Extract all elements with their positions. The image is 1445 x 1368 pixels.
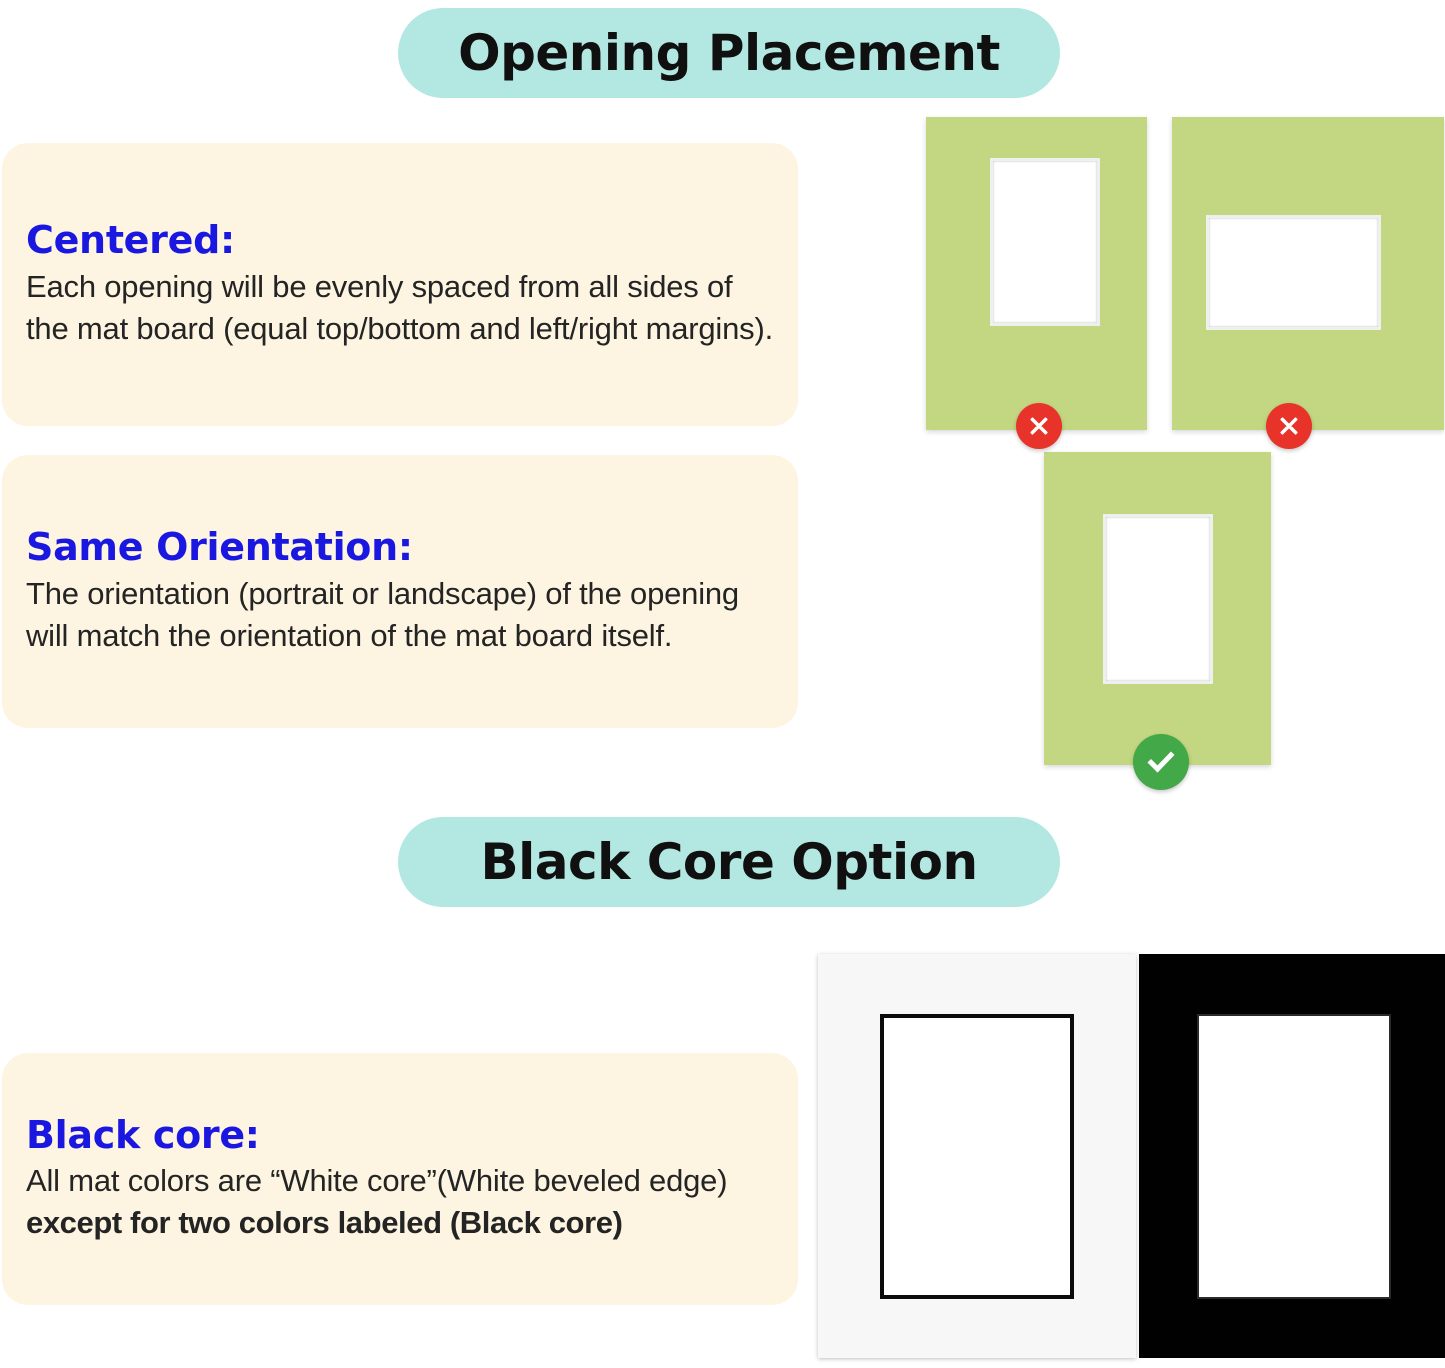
mat-opening — [1103, 514, 1213, 684]
check-icon — [1133, 734, 1189, 790]
mat-sample-white-with-black-core — [818, 954, 1136, 1358]
card-body-centered: Each opening will be evenly spaced from … — [26, 266, 774, 350]
card-heading-black-core: Black core: — [26, 1114, 774, 1157]
info-card-centered: Centered: Each opening will be evenly sp… — [2, 143, 798, 426]
mat-opening-black-bevel — [880, 1014, 1074, 1299]
mat-opening — [1206, 215, 1381, 330]
section-title-text: Opening Placement — [458, 24, 1000, 82]
info-card-black-core: Black core: All mat colors are “White co… — [2, 1053, 798, 1305]
card-body-black-core-line1: All mat colors are “White core”(White be… — [26, 1160, 774, 1202]
card-heading-centered: Centered: — [26, 219, 774, 262]
mat-opening — [990, 158, 1100, 326]
mat-sample-black — [1139, 954, 1445, 1358]
section-title-text: Black Core Option — [480, 833, 977, 891]
mat-example-offcenter-portrait — [926, 117, 1147, 430]
mat-opening — [1197, 1014, 1391, 1299]
x-icon — [1266, 403, 1312, 449]
section-header-opening-placement: Opening Placement — [398, 8, 1060, 98]
x-icon — [1016, 403, 1062, 449]
card-body-same-orientation: The orientation (portrait or landscape) … — [26, 573, 774, 657]
section-header-black-core-option: Black Core Option — [398, 817, 1060, 907]
card-body-black-core-line2: except for two colors labeled (Black cor… — [26, 1202, 774, 1244]
card-heading-same-orientation: Same Orientation: — [26, 526, 774, 569]
mat-example-wrong-orientation — [1172, 117, 1444, 430]
info-card-same-orientation: Same Orientation: The orientation (portr… — [2, 455, 798, 728]
mat-example-correct-centered — [1044, 452, 1271, 765]
